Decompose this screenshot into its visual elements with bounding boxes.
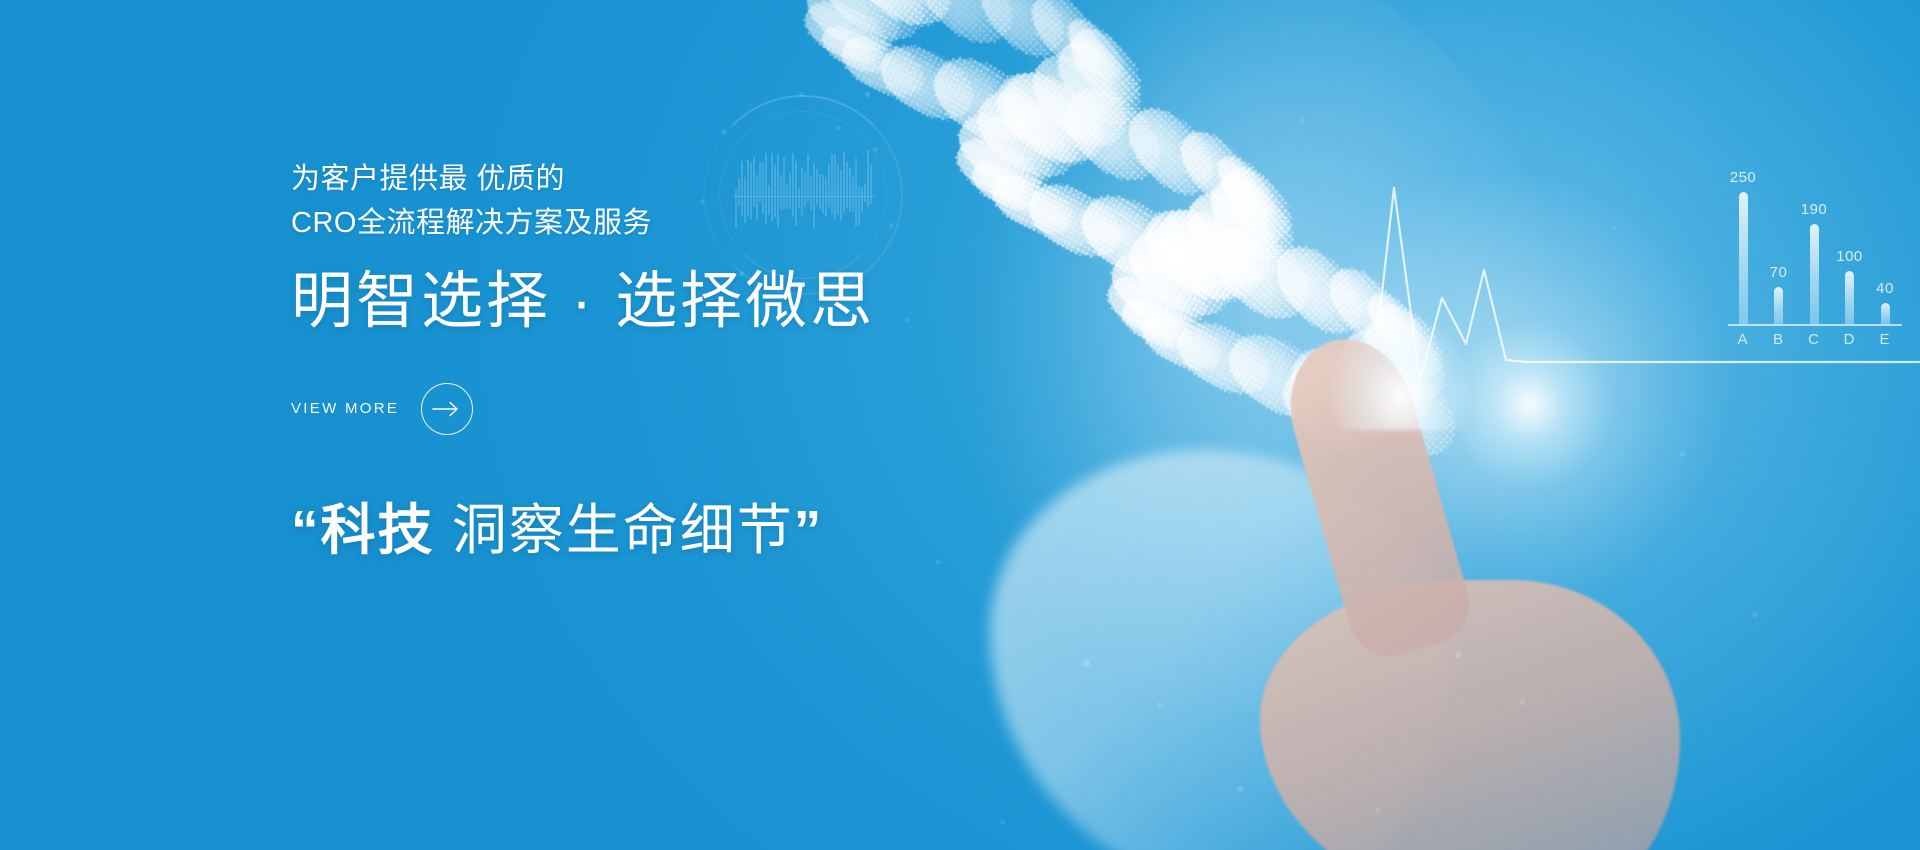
index-finger-shape [1273, 324, 1478, 665]
dna-nucleotide [1045, 28, 1154, 139]
dna-nucleotide [1115, 96, 1226, 208]
bokeh-speck [865, 92, 870, 97]
dna-nucleotide [1169, 121, 1262, 218]
dna-nucleotide [1172, 178, 1294, 298]
dna-nucleotide [1270, 352, 1397, 468]
mini-bar-chart-category-label: E [1872, 331, 1898, 348]
dna-nucleotide [797, 0, 895, 72]
dna-nucleotide [1209, 148, 1282, 225]
dna-nucleotide [1278, 333, 1407, 453]
fingertip-glow [1328, 310, 1468, 430]
helix-core-glow [1390, 265, 1670, 545]
dna-nucleotide [811, 0, 936, 54]
dna-nucleotide [836, 0, 965, 41]
bokeh-speck [1000, 820, 1005, 825]
quote-close-mark: ” [794, 499, 824, 561]
bokeh-speck [1300, 118, 1305, 123]
mini-bar-chart-column: 70 [1766, 176, 1792, 324]
dna-nucleotide [1318, 258, 1412, 356]
dna-nucleotide [1021, 0, 1113, 79]
mini-bar-chart-bar [1810, 224, 1819, 324]
dna-nucleotide [1069, 182, 1193, 294]
quote-open-mark: “ [291, 499, 321, 561]
bokeh-speck [1752, 612, 1758, 618]
bokeh-speck [1612, 226, 1616, 230]
dna-nucleotide [1134, 303, 1228, 380]
mini-bar-chart-category-label: A [1730, 331, 1756, 348]
dna-nucleotide [1060, 19, 1151, 114]
dna-nucleotide [1198, 166, 1306, 276]
mini-bar-chart-bar [1739, 192, 1748, 324]
dna-nucleotide [1296, 332, 1424, 454]
mini-bar-chart-plot: 2507019010040 [1730, 176, 1898, 324]
hero-quote: “科技 洞察生命细节” [291, 485, 1051, 565]
sleeve-shape [990, 450, 1450, 850]
dna-nucleotide [1167, 310, 1278, 406]
dna-nucleotide [836, 0, 965, 41]
view-more-button[interactable]: VIEW MORE [291, 383, 473, 435]
hero-subtitle: 为客户提供最 优质的 CRO全流程解决方案及服务 [291, 158, 1051, 245]
mini-bar-chart-axis [1728, 324, 1902, 326]
dna-nucleotide [1217, 320, 1341, 431]
mini-bar-chart-column: 190 [1801, 176, 1827, 324]
bokeh-speck [1083, 660, 1090, 667]
dna-nucleotide [1351, 304, 1458, 413]
dna-nucleotide [1059, 11, 1131, 87]
mini-bar-chart-column: 250 [1730, 176, 1756, 324]
bokeh-speck [1237, 786, 1243, 792]
mini-bar-chart-value-label: 250 [1730, 169, 1757, 186]
dna-nucleotide [870, 34, 983, 132]
mini-bar-chart-bar [1845, 271, 1854, 324]
view-more-label: VIEW MORE [291, 400, 399, 417]
dna-nucleotide [1099, 265, 1199, 348]
dna-nucleotide [816, 18, 894, 80]
mini-bar-chart-value-label: 70 [1770, 264, 1788, 281]
dna-nucleotide [834, 26, 931, 106]
dna-nucleotide [1116, 292, 1197, 356]
dna-nucleotide [1100, 239, 1216, 340]
dna-nucleotide [1262, 233, 1374, 346]
mini-bar-chart-value-label: 40 [1876, 280, 1894, 297]
dna-nucleotide [796, 0, 910, 64]
dna-nucleotide [1359, 285, 1433, 364]
palm-shape [1260, 580, 1680, 850]
mini-bar-chart-value-label: 100 [1836, 248, 1863, 265]
dna-nucleotide [1197, 212, 1321, 333]
mini-bar-chart-bar [1881, 303, 1890, 324]
bokeh-speck [1455, 652, 1461, 658]
hand-pointing-graphic [1010, 430, 1650, 850]
dna-nucleotide [1130, 195, 1259, 316]
dna-nucleotide [1326, 316, 1447, 435]
dna-nucleotide [1019, 40, 1141, 160]
dna-nucleotide [1364, 295, 1452, 387]
mini-bar-chart-category-label: C [1801, 331, 1827, 348]
hero-headline: 明智选择 · 选择微思 [291, 267, 1051, 338]
dna-nucleotide [1143, 194, 1271, 316]
dna-nucleotide [1345, 349, 1470, 470]
dna-nucleotide [967, 0, 1077, 70]
bokeh-speck [836, 126, 840, 130]
mini-bar-chart-column: 40 [1872, 176, 1898, 324]
dna-nucleotide [903, 0, 1026, 57]
mini-bar-chart-category-label: B [1766, 331, 1792, 348]
mini-bar-chart-category-labels: ABCDE [1730, 331, 1898, 348]
dna-nucleotide [1050, 74, 1174, 195]
heartbeat-line-icon [1316, 148, 1920, 408]
hero-copy: 为客户提供最 优质的 CRO全流程解决方案及服务 明智选择 · 选择微思 VIE… [291, 158, 1051, 565]
arrow-right-icon[interactable] [421, 383, 473, 435]
dna-nucleotide [1117, 215, 1243, 330]
mini-bar-chart-category-label: D [1837, 331, 1863, 348]
hero-banner: 2507019010040 ABCDE 为客户提供最 优质的 CRO全流程解决方… [0, 0, 1920, 850]
dna-nucleotide [921, 44, 1046, 157]
mini-bar-chart-value-label: 190 [1801, 201, 1828, 218]
bokeh-speck [1680, 452, 1685, 457]
mini-bar-chart-bar [1774, 287, 1783, 324]
quote-strong-text: 科技 [321, 499, 435, 561]
bokeh-speck [1520, 700, 1525, 705]
hero-subtitle-line-2: CRO全流程解决方案及服务 [291, 202, 1051, 246]
dna-nucleotide [1212, 157, 1301, 250]
bokeh-speck [1375, 808, 1380, 813]
mini-bar-chart-column: 100 [1837, 176, 1863, 324]
bokeh-speck [1157, 702, 1162, 707]
quote-light-text: 洞察生命细节 [435, 499, 794, 561]
hero-subtitle-line-1: 为客户提供最 优质的 [291, 158, 1051, 202]
mini-bar-chart: 2507019010040 ABCDE [1718, 168, 1908, 368]
